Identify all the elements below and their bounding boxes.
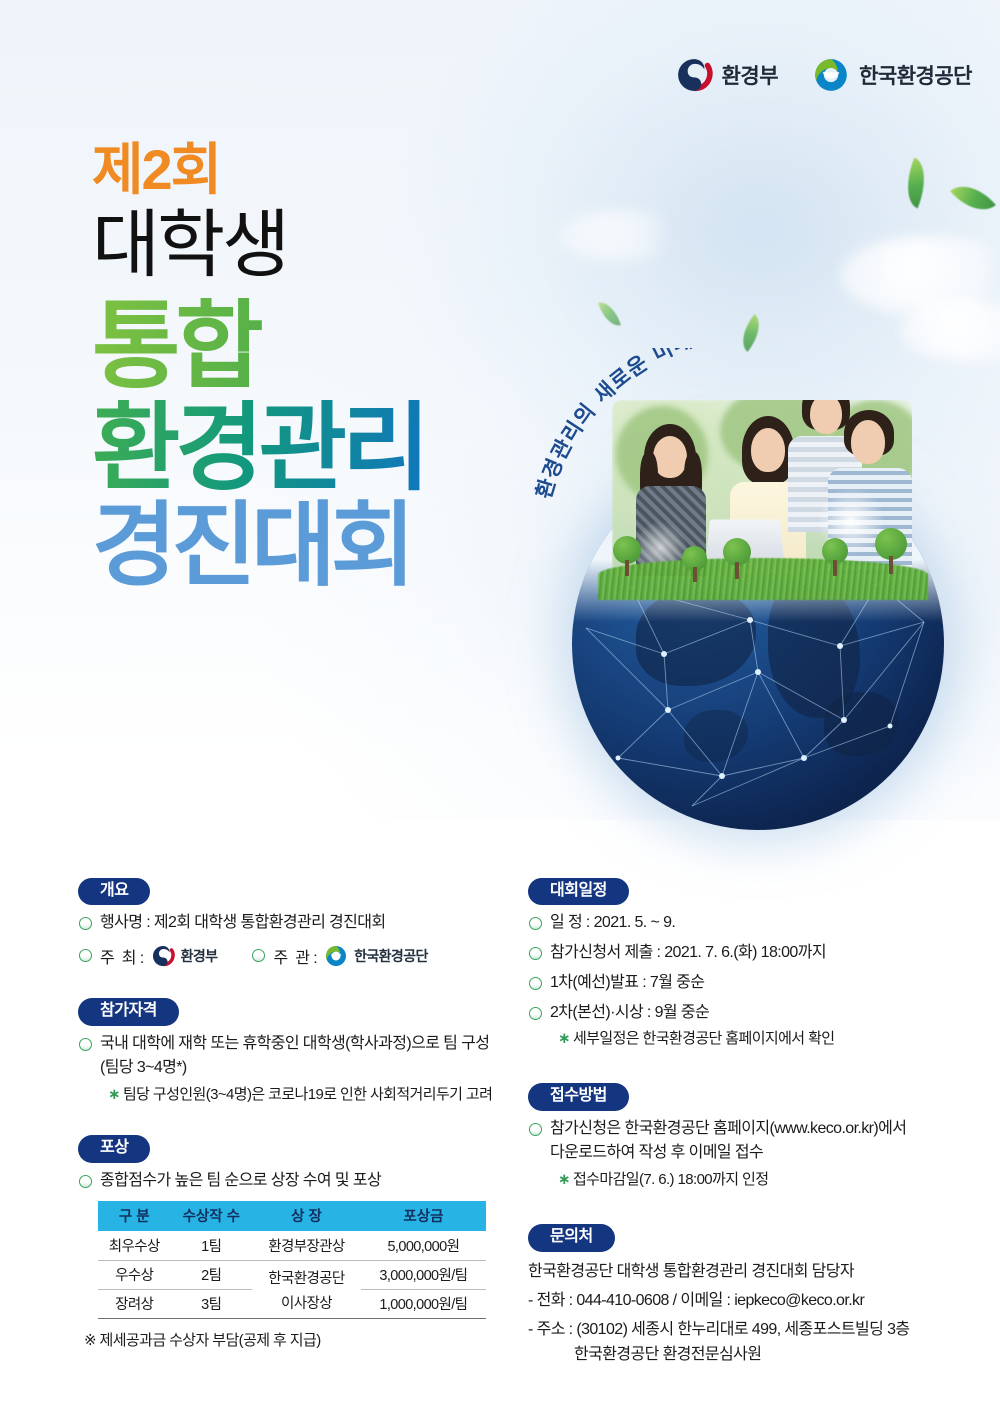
overview-organizations: 주 최 : 환경부 주 관 : 한국환경공단 (78, 944, 508, 968)
section-badge-eligibility: 참가자격 (78, 998, 179, 1025)
tree-icon (820, 538, 850, 580)
prize-table: 구 분 수상작 수 상 장 포상금 최우수상 1팀 환경부장관상 5,000,0… (98, 1201, 486, 1319)
right-info-column: 대회일정 일 정 : 2021. 5. ~ 9. 참가신청서 제출 : 2021… (528, 878, 960, 1371)
section-contact: 문의처 한국환경공단 대학생 통합환경관리 경진대회 담당자 - 전화 : 04… (528, 1224, 960, 1366)
section-badge-apply: 접수방법 (528, 1083, 629, 1110)
section-badge-schedule: 대회일정 (528, 878, 629, 905)
tree-trunk (833, 560, 837, 576)
schedule-item: 1차(예선)발표 : 7월 중순 (528, 972, 960, 995)
section-badge-contact: 문의처 (528, 1224, 615, 1251)
section-eligibility: 참가자격 국내 대학에 재학 또는 휴학중인 대학생(학사과정)으로 팀 구성 … (78, 998, 508, 1105)
table-row: 우수상 2팀 한국환경공단 3,000,000원/팀 (98, 1261, 486, 1290)
tree-trunk (693, 567, 697, 582)
host-name: 환경부 (181, 946, 218, 966)
organizer-name: 한국환경공단 (354, 946, 428, 966)
schedule-item: 2차(본선)·시상 : 9월 중순 (528, 1002, 960, 1025)
prize-certificate: 이사장상 (252, 1290, 361, 1319)
prize-footnote: ※ 제세공과금 수상자 부담(공제 후 지급) (84, 1329, 508, 1350)
section-overview: 개요 행사명 : 제2회 대학생 통합환경관리 경진대회 주 최 : 환경부 주… (78, 878, 508, 968)
person-head (851, 420, 885, 464)
apply-line-1: 참가신청은 한국환경공단 홈페이지(www.keco.or.kr)에서 (528, 1118, 960, 1141)
prize-intro: 종합점수가 높은 팀 순으로 상장 수여 및 포상 (78, 1170, 508, 1193)
person-head (653, 436, 687, 478)
eligibility-line-1: 국내 대학에 재학 또는 휴학중인 대학생(학사과정)으로 팀 구성 (78, 1033, 508, 1056)
host-item: 주 최 : 환경부 (78, 944, 217, 968)
prize-certificate: 환경부장관상 (252, 1232, 361, 1261)
students-photo (612, 400, 912, 580)
hero-graphic: 환경관리의 새로운 미래, 함께 도전하라 (520, 340, 990, 790)
tree-icon (872, 528, 910, 578)
prize-division: 장려상 (98, 1290, 170, 1319)
schedule-item: 일 정 : 2021. 5. ~ 9. (528, 912, 960, 935)
tree-trunk (625, 560, 629, 576)
left-info-column: 개요 행사명 : 제2회 대학생 통합환경관리 경진대회 주 최 : 환경부 주… (78, 878, 508, 1354)
prize-count: 3팀 (170, 1290, 252, 1319)
prize-amount: 5,000,000원 (361, 1232, 486, 1261)
prize-col-count: 수상작 수 (170, 1201, 252, 1232)
apply-line-2: 다운로드하여 작성 후 이메일 접수 (528, 1141, 960, 1165)
section-apply: 접수방법 참가신청은 한국환경공단 홈페이지(www.keco.or.kr)에서… (528, 1083, 960, 1190)
prize-col-amount: 포상금 (361, 1201, 486, 1232)
tree-icon (610, 536, 644, 580)
organizer-item: 주 관 : 한국환경공단 (251, 944, 427, 968)
overview-event-name: 행사명 : 제2회 대학생 통합환경관리 경진대회 (78, 912, 508, 935)
schedule-note: 세부일정은 한국환경공단 홈페이지에서 확인 (528, 1028, 960, 1049)
title-line-univ: 대학생 (92, 206, 612, 284)
schedule-item: 참가신청서 제출 : 2021. 7. 6.(화) 18:00까지 (528, 942, 960, 965)
poster: 환경부 한국환경공단 제2회 대학생 통합 환경관리 경진대회 환경관리의 새로… (0, 0, 1000, 1414)
section-badge-prize: 포상 (78, 1135, 150, 1162)
keco-ring-logo (812, 56, 850, 94)
keco-name: 한국환경공단 (859, 60, 972, 90)
keco-logo-unit: 한국환경공단 (812, 56, 972, 94)
prize-division: 우수상 (98, 1261, 170, 1290)
section-badge-overview: 개요 (78, 878, 150, 905)
person-head (751, 428, 785, 472)
apply-note: 접수마감일(7. 6.) 18:00까지 인정 (528, 1169, 960, 1190)
prize-count: 1팀 (170, 1232, 252, 1261)
prize-col-certificate: 상 장 (252, 1201, 361, 1232)
table-row: 최우수상 1팀 환경부장관상 5,000,000원 (98, 1232, 486, 1261)
eligibility-note: 팀당 구성인원(3~4명)은 코로나19로 인한 사회적거리두기 고려 (78, 1084, 508, 1105)
prize-certificate: 한국환경공단 (252, 1261, 361, 1290)
prize-count: 2팀 (170, 1261, 252, 1290)
contact-phone-email: - 전화 : 044-410-0608 / 이메일 : iepkeco@keco… (528, 1289, 960, 1313)
contact-owner: 한국환경공단 대학생 통합환경관리 경진대회 담당자 (528, 1260, 960, 1284)
contact-address-line-2: 한국환경공단 환경전문심사원 (528, 1343, 960, 1367)
tree-trunk (735, 562, 739, 579)
eligibility-line-2: (팀당 3~4명*) (78, 1056, 508, 1080)
host-label: 주 최 : (100, 944, 144, 968)
section-schedule: 대회일정 일 정 : 2021. 5. ~ 9. 참가신청서 제출 : 2021… (528, 878, 960, 1049)
title-edition: 제2회 (92, 142, 612, 198)
moe-taegeuk-logo-small (151, 944, 175, 968)
tree-icon (680, 546, 710, 586)
prize-table-header-row: 구 분 수상작 수 상 장 포상금 (98, 1201, 486, 1232)
tree-trunk (889, 556, 893, 574)
prize-division: 최우수상 (98, 1232, 170, 1261)
section-prize: 포상 종합점수가 높은 팀 순으로 상장 수여 및 포상 구 분 수상작 수 상… (78, 1135, 508, 1350)
tree-icon (720, 538, 754, 584)
ministry-name: 환경부 (722, 60, 778, 90)
prize-amount: 3,000,000원/팀 (361, 1261, 486, 1290)
moe-taegeuk-logo (675, 56, 713, 94)
prize-col-division: 구 분 (98, 1201, 170, 1232)
organizer-label: 주 관 : (273, 944, 317, 968)
keco-ring-logo-small (324, 944, 348, 968)
header-logos: 환경부 한국환경공단 (675, 56, 972, 94)
prize-amount: 1,000,000원/팀 (361, 1290, 486, 1319)
contact-address-line-1: - 주소 : (30102) 세종시 한누리대로 499, 세종포스트빌딩 3층 (528, 1318, 960, 1342)
table-row: 장려상 3팀 이사장상 1,000,000원/팀 (98, 1290, 486, 1319)
ministry-logo-unit: 환경부 (675, 56, 778, 94)
